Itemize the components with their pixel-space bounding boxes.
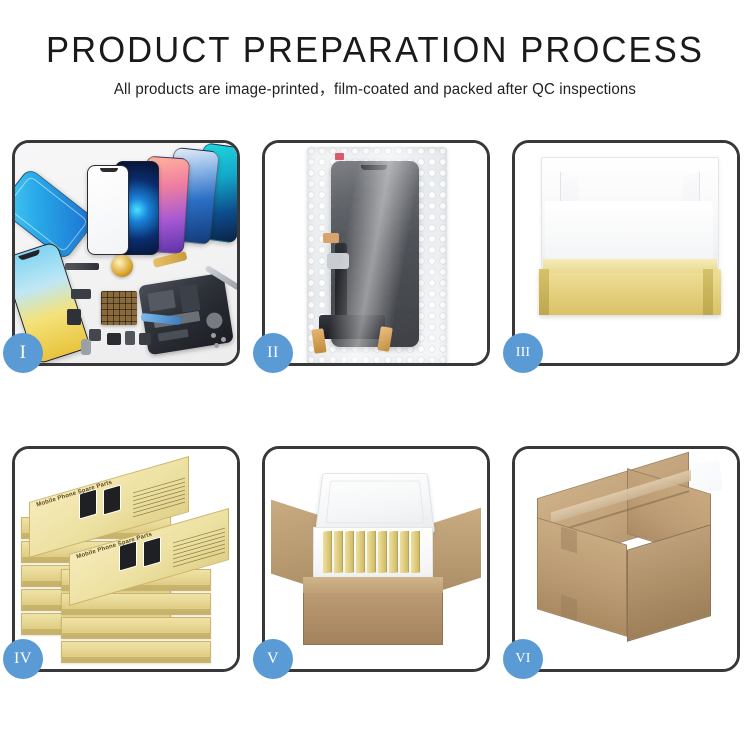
gold-tray-icon (539, 269, 721, 315)
carton-front-edge (303, 577, 443, 593)
component-part-icon (71, 289, 91, 299)
product-preparation-infographic: PRODUCT PREPARATION PROCESS All products… (0, 0, 750, 750)
step-badge-1: I (3, 333, 43, 373)
styrofoam-lid-icon (315, 473, 435, 533)
step-panel-6: VI (512, 446, 740, 672)
step-image-1 (15, 143, 237, 363)
step-image-5 (265, 449, 487, 669)
carton-tab-icon (561, 527, 577, 554)
step-badge-5: V (253, 639, 293, 679)
bubble-wrap-icon (307, 147, 447, 363)
component-part-icon (67, 309, 81, 325)
speaker-coin-icon (111, 255, 133, 277)
box-stack-icon: Mobile Phone Spare Parts Mobile Phone Sp… (21, 465, 233, 661)
tray-edge-icon (539, 269, 549, 315)
steps-grid: I (12, 140, 740, 672)
step-image-6 (515, 449, 737, 669)
phones-and-parts-scene (15, 143, 237, 363)
step-panel-4: Mobile Phone Spare Parts Mobile Phone Sp… (12, 446, 240, 672)
open-gift-box-scene (515, 143, 737, 363)
tray-edge-icon (703, 269, 713, 315)
red-tab-icon (335, 153, 344, 160)
step-panel-1: I (12, 140, 240, 366)
step-badge-6: VI (503, 639, 543, 679)
carton-tab-icon (561, 595, 577, 622)
sealed-carton-scene (515, 449, 737, 669)
step-panel-2: II (262, 140, 490, 366)
page-subtitle: All products are image-printed，film-coat… (11, 80, 739, 100)
stacked-boxes-scene: Mobile Phone Spare Parts Mobile Phone Sp… (15, 449, 237, 669)
step-image-2 (265, 143, 487, 363)
step-image-3 (515, 143, 737, 363)
screws-icon (211, 333, 233, 349)
component-part-icon (107, 333, 121, 345)
bubble-wrapped-screen-scene (265, 143, 487, 363)
connector-icon (327, 253, 349, 269)
printed-screen-image (103, 484, 121, 515)
gold-tape-icon (377, 326, 393, 352)
step-badge-3: III (503, 333, 543, 373)
component-part-icon (139, 333, 151, 345)
lcd-base-icon (319, 315, 385, 339)
step-panel-5: V (262, 446, 490, 672)
phone-white-icon (87, 165, 129, 255)
chip-grid-icon (101, 291, 137, 325)
open-carton-scene (265, 449, 487, 669)
step-badge-4: IV (3, 639, 43, 679)
step-panel-3: III (512, 140, 740, 366)
earpiece-mesh-icon (65, 263, 99, 270)
step-badge-2: II (253, 333, 293, 373)
adhesive-tape-icon (323, 233, 339, 243)
page-title: PRODUCT PREPARATION PROCESS (15, 30, 735, 70)
component-part-icon (89, 329, 101, 341)
component-part-icon (81, 339, 91, 355)
step-image-4: Mobile Phone Spare Parts Mobile Phone Sp… (15, 449, 237, 669)
header: PRODUCT PREPARATION PROCESS All products… (0, 30, 750, 100)
printed-screen-image (143, 536, 161, 567)
component-part-icon (125, 331, 135, 345)
yellow-boxes-group (321, 531, 425, 573)
